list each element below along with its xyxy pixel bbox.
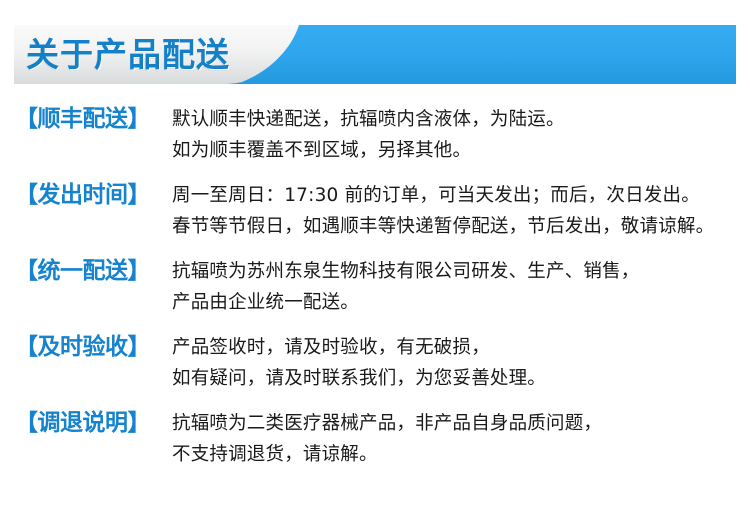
section-label: 【统一配送】 bbox=[15, 256, 172, 287]
section-line: 默认顺丰快递配送，抗辐喷内含液体，为陆运。 bbox=[172, 104, 750, 135]
section-row: 【统一配送】 抗辐喷为苏州东泉生物科技有限公司研发、生产、销售， 产品由企业统一… bbox=[0, 256, 750, 318]
section-row: 【及时验收】 产品签收时，请及时验收，有无破损， 如有疑问，请及时联系我们，为您… bbox=[0, 332, 750, 394]
page-header-banner: 关于产品配送 bbox=[14, 25, 736, 84]
section-line: 如为顺丰覆盖不到区域，另择其他。 bbox=[172, 135, 750, 166]
section-line: 抗辐喷为二类医疗器械产品，非产品自身品质问题， bbox=[172, 408, 750, 439]
section-body: 抗辐喷为苏州东泉生物科技有限公司研发、生产、销售， 产品由企业统一配送。 bbox=[172, 256, 750, 318]
section-row: 【顺丰配送】 默认顺丰快递配送，抗辐喷内含液体，为陆运。 如为顺丰覆盖不到区域，… bbox=[0, 104, 750, 166]
section-body: 默认顺丰快递配送，抗辐喷内含液体，为陆运。 如为顺丰覆盖不到区域，另择其他。 bbox=[172, 104, 750, 166]
shipping-sections: 【顺丰配送】 默认顺丰快递配送，抗辐喷内含液体，为陆运。 如为顺丰覆盖不到区域，… bbox=[0, 104, 750, 484]
section-label: 【及时验收】 bbox=[15, 332, 172, 363]
section-row: 【发出时间】 周一至周日：17:30 前的订单，可当天发出；而后，次日发出。 春… bbox=[0, 180, 750, 242]
section-line: 不支持调退货，请谅解。 bbox=[172, 439, 750, 470]
section-label: 【发出时间】 bbox=[15, 180, 172, 211]
section-body: 产品签收时，请及时验收，有无破损， 如有疑问，请及时联系我们，为您妥善处理。 bbox=[172, 332, 750, 394]
section-row: 【调退说明】 抗辐喷为二类医疗器械产品，非产品自身品质问题， 不支持调退货，请谅… bbox=[0, 408, 750, 470]
section-line: 产品由企业统一配送。 bbox=[172, 287, 750, 318]
section-body: 周一至周日：17:30 前的订单，可当天发出；而后，次日发出。 春节等节假日，如… bbox=[172, 180, 750, 242]
section-label: 【顺丰配送】 bbox=[15, 104, 172, 135]
section-body: 抗辐喷为二类医疗器械产品，非产品自身品质问题， 不支持调退货，请谅解。 bbox=[172, 408, 750, 470]
section-label: 【调退说明】 bbox=[15, 408, 172, 439]
section-line: 周一至周日：17:30 前的订单，可当天发出；而后，次日发出。 bbox=[172, 180, 750, 211]
section-line: 产品签收时，请及时验收，有无破损， bbox=[172, 332, 750, 363]
shipping-info-page: 关于产品配送 【顺丰配送】 默认顺丰快递配送，抗辐喷内含液体，为陆运。 如为顺丰… bbox=[0, 0, 750, 506]
page-title: 关于产品配送 bbox=[26, 25, 230, 84]
section-line: 抗辐喷为苏州东泉生物科技有限公司研发、生产、销售， bbox=[172, 256, 750, 287]
section-line: 如有疑问，请及时联系我们，为您妥善处理。 bbox=[172, 363, 750, 394]
section-line: 春节等节假日，如遇顺丰等快递暂停配送，节后发出，敬请谅解。 bbox=[172, 211, 750, 242]
